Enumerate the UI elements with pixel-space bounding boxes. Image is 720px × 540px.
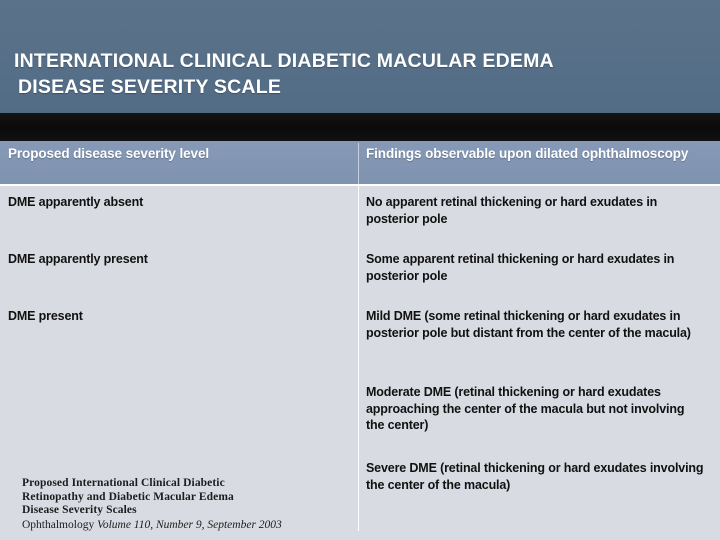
slide-title: International Clinical Diabetic Macular …	[14, 48, 704, 100]
column-header-findings: Findings observable upon dilated ophthal…	[366, 145, 706, 162]
citation-journal-name: Ophthalmology	[22, 519, 97, 531]
table-row: DME apparently present	[8, 251, 348, 268]
slide-canvas: International Clinical Diabetic Macular …	[0, 0, 720, 540]
table-row: Moderate DME (retinal thickening or hard…	[366, 384, 704, 434]
table-header-row: Proposed disease severity level Findings…	[0, 141, 720, 184]
slide-title-line-2: Disease Severity Scale	[14, 74, 704, 100]
citation-journal-line: Ophthalmology Volume 110, Number 9, Sept…	[22, 519, 352, 533]
table-row: DME apparently absent	[8, 194, 348, 211]
severity-scale-table: Proposed disease severity level Findings…	[0, 141, 720, 533]
table-row: Mild DME (some retinal thickening or har…	[366, 308, 704, 341]
citation-line-2: Retinopathy and Diabetic Macular Edema	[22, 491, 352, 505]
citation-block: Proposed International Clinical Diabetic…	[22, 477, 352, 532]
table-row: No apparent retinal thickening or hard e…	[366, 194, 704, 227]
black-accent-bar	[0, 113, 720, 141]
header-column-divider	[358, 143, 359, 184]
citation-line-1: Proposed International Clinical Diabetic	[22, 477, 352, 491]
column-header-severity-level: Proposed disease severity level	[8, 145, 338, 162]
table-row: DME present	[8, 308, 348, 325]
citation-line-3: Disease Severity Scales	[22, 504, 352, 518]
table-row: Some apparent retinal thickening or hard…	[366, 251, 704, 284]
table-row: Severe DME (retinal thickening or hard e…	[366, 460, 704, 493]
citation-journal-details: Volume 110, Number 9, September 2003	[97, 519, 282, 531]
slide-title-line-1: International Clinical Diabetic Macular …	[14, 50, 554, 72]
title-banner: International Clinical Diabetic Macular …	[0, 0, 720, 113]
header-underline	[0, 184, 720, 186]
body-column-divider	[358, 186, 359, 531]
